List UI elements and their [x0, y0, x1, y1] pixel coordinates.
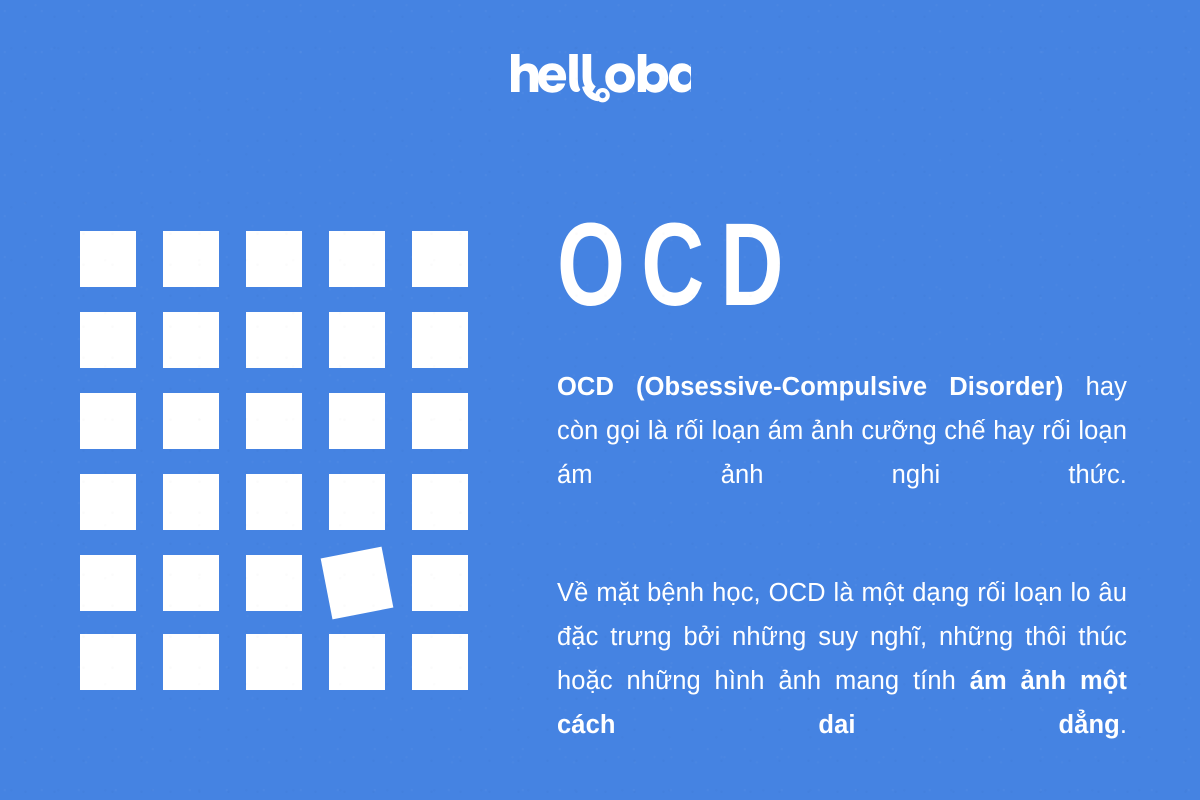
grid-square — [246, 555, 302, 611]
pathology-period: . — [1120, 711, 1127, 739]
grid-square — [329, 634, 385, 690]
content-column: OCD OCD (Obsessive-Compulsive Disorder) … — [557, 215, 1127, 791]
grid-square — [412, 474, 468, 530]
grid-square — [329, 474, 385, 530]
grid-square — [163, 555, 219, 611]
grid-square — [80, 555, 136, 611]
grid-square — [412, 231, 468, 287]
square-grid — [80, 231, 460, 690]
hellobacsi-logo-svg — [509, 52, 691, 104]
grid-square-tilted — [321, 547, 394, 620]
grid-square — [412, 634, 468, 690]
grid-square — [80, 312, 136, 368]
paragraph-definition: OCD (Obsessive-Compulsive Disorder) hay … — [557, 365, 1127, 541]
grid-square — [80, 474, 136, 530]
grid-square — [329, 393, 385, 449]
grid-square — [163, 393, 219, 449]
page-title: OCD — [557, 215, 979, 315]
grid-square — [329, 231, 385, 287]
brand-logo[interactable] — [0, 52, 1200, 104]
grid-square — [163, 231, 219, 287]
grid-square — [412, 393, 468, 449]
paragraph-pathology: Về mặt bệnh học, OCD là một dạng rối loạ… — [557, 571, 1127, 791]
grid-square — [246, 393, 302, 449]
grid-square — [80, 231, 136, 287]
grid-square — [80, 634, 136, 690]
grid-square — [80, 393, 136, 449]
grid-square — [329, 312, 385, 368]
grid-square — [246, 634, 302, 690]
grid-square — [163, 312, 219, 368]
grid-square — [412, 555, 468, 611]
grid-square — [246, 474, 302, 530]
grid-square — [163, 474, 219, 530]
grid-square — [163, 634, 219, 690]
grid-square — [412, 312, 468, 368]
grid-square — [246, 231, 302, 287]
grid-square — [246, 312, 302, 368]
definition-term: OCD (Obsessive-Compulsive Disorder) — [557, 373, 1086, 401]
